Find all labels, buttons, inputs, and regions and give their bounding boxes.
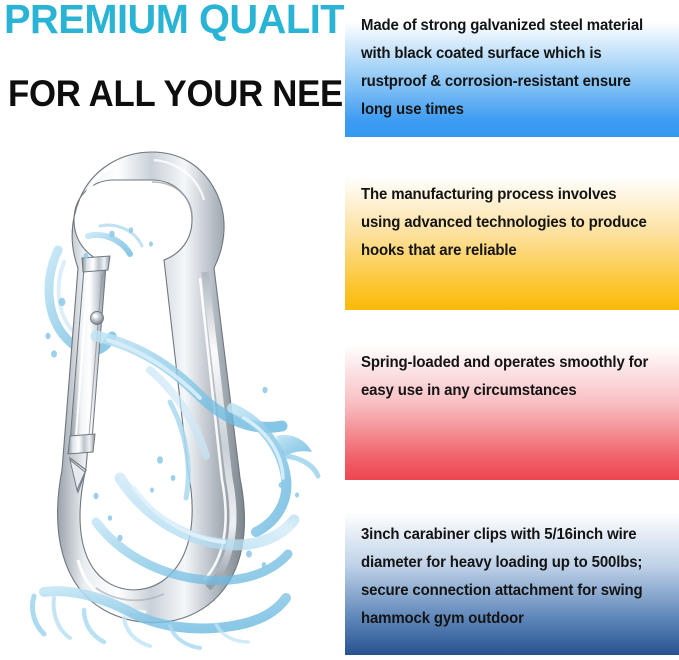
feature-panel-specs-text: 3inch carabiner clips with 5/16inch wire…	[361, 507, 653, 633]
feature-panel-manufacturing-text: The manufacturing process involves using…	[361, 167, 653, 265]
page-subtitle: FOR ALL YOUR NEED	[8, 74, 318, 114]
feature-panel-spring: Spring-loaded and operates smoothly for …	[345, 325, 679, 480]
feature-panel-material-text: Made of strong galvanized steel material…	[361, 12, 653, 124]
feature-panel-spring-text: Spring-loaded and operates smoothly for …	[361, 337, 653, 405]
feature-panel-manufacturing: The manufacturing process involves using…	[345, 155, 679, 310]
product-image	[0, 140, 345, 660]
left-column: PREMIUM QUALITY FOR ALL YOUR NEED	[0, 0, 345, 660]
page-title: PREMIUM QUALITY	[4, 0, 332, 41]
feature-panel-specs: 3inch carabiner clips with 5/16inch wire…	[345, 495, 679, 655]
product-infographic: PREMIUM QUALITY FOR ALL YOUR NEED	[0, 0, 679, 660]
features-column: Made of strong galvanized steel material…	[345, 0, 679, 660]
feature-panel-material: Made of strong galvanized steel material…	[345, 0, 679, 137]
